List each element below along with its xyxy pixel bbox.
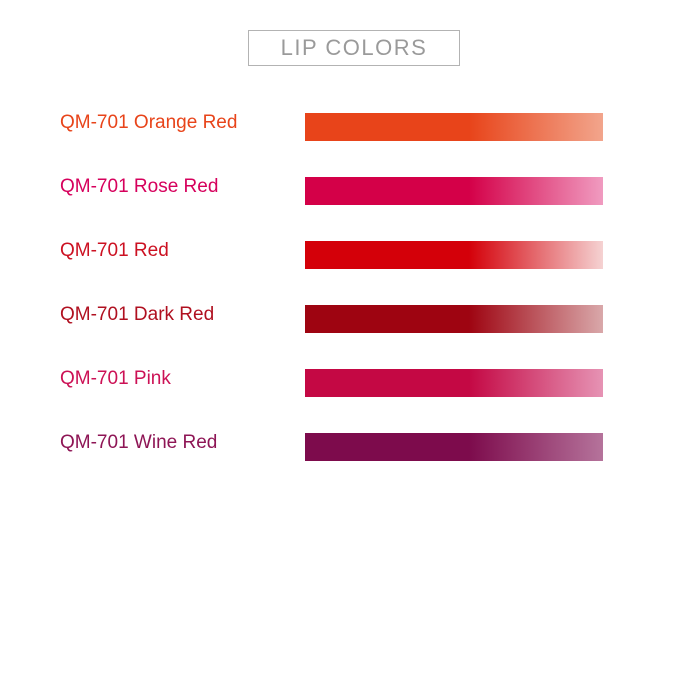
swatch-row: QM-701 Rose Red xyxy=(0,169,700,233)
color-swatch[interactable] xyxy=(305,177,603,205)
color-swatch[interactable] xyxy=(305,113,603,141)
color-swatch[interactable] xyxy=(305,433,603,461)
swatch-row: QM-701 Wine Red xyxy=(0,425,700,489)
swatch-label: QM-701 Wine Red xyxy=(60,425,217,461)
color-swatch[interactable] xyxy=(305,369,603,397)
page-title-box: LIP COLORS xyxy=(248,30,460,66)
swatch-label: QM-701 Orange Red xyxy=(60,105,237,141)
page-title: LIP COLORS xyxy=(281,35,428,61)
color-swatch[interactable] xyxy=(305,305,603,333)
swatch-row: QM-701 Pink xyxy=(0,361,700,425)
swatch-label: QM-701 Red xyxy=(60,233,169,269)
swatch-list: QM-701 Orange RedQM-701 Rose RedQM-701 R… xyxy=(0,105,700,489)
lip-colors-chart: LIP COLORS QM-701 Orange RedQM-701 Rose … xyxy=(0,0,700,700)
swatch-label: QM-701 Dark Red xyxy=(60,297,214,333)
swatch-label: QM-701 Rose Red xyxy=(60,169,218,205)
swatch-row: QM-701 Orange Red xyxy=(0,105,700,169)
swatch-label: QM-701 Pink xyxy=(60,361,171,397)
swatch-row: QM-701 Dark Red xyxy=(0,297,700,361)
color-swatch[interactable] xyxy=(305,241,603,269)
swatch-row: QM-701 Red xyxy=(0,233,700,297)
